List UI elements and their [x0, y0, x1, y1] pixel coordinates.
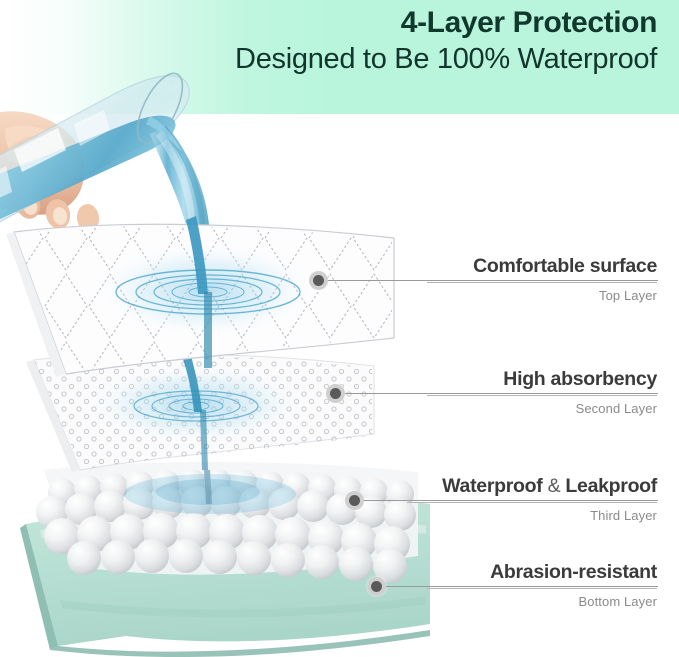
label-third-layer-title-head: Waterproof — [442, 475, 542, 497]
layer-stack-illustration — [0, 0, 460, 657]
label-bottom-layer: Abrasion-resistant Bottom Layer — [427, 561, 657, 609]
label-top-layer-sub: Top Layer — [427, 288, 657, 303]
label-third-layer-amp: & — [548, 475, 561, 497]
callout-dot-second-layer[interactable] — [326, 384, 345, 403]
infographic-canvas: 4-Layer Protection Designed to Be 100% W… — [0, 0, 679, 657]
layer-top-quilted — [0, 216, 420, 380]
label-bottom-layer-title: Abrasion-resistant — [427, 561, 657, 584]
label-second-layer: High absorbency Second Layer — [427, 368, 657, 416]
label-top-layer: Comfortable surface Top Layer — [427, 255, 657, 303]
label-rule — [427, 588, 657, 589]
callout-dot-top-layer[interactable] — [309, 271, 328, 290]
label-bottom-layer-sub: Bottom Layer — [427, 594, 657, 609]
layer-third-spheres — [36, 462, 418, 583]
label-third-layer-sub: Third Layer — [407, 508, 657, 523]
label-top-layer-title: Comfortable surface — [427, 255, 657, 278]
label-rule — [427, 282, 657, 283]
label-second-layer-title: High absorbency — [427, 368, 657, 391]
label-third-layer: Waterproof & Leakproof Third Layer — [407, 475, 657, 523]
callout-dot-bottom-layer[interactable] — [367, 577, 386, 596]
callout-dot-third-layer[interactable] — [345, 491, 364, 510]
label-rule — [427, 395, 657, 396]
label-third-layer-title-tail: Leakproof — [565, 475, 657, 497]
label-rule — [407, 502, 657, 503]
label-third-layer-title: Waterproof & Leakproof — [407, 475, 657, 498]
label-second-layer-sub: Second Layer — [427, 401, 657, 416]
